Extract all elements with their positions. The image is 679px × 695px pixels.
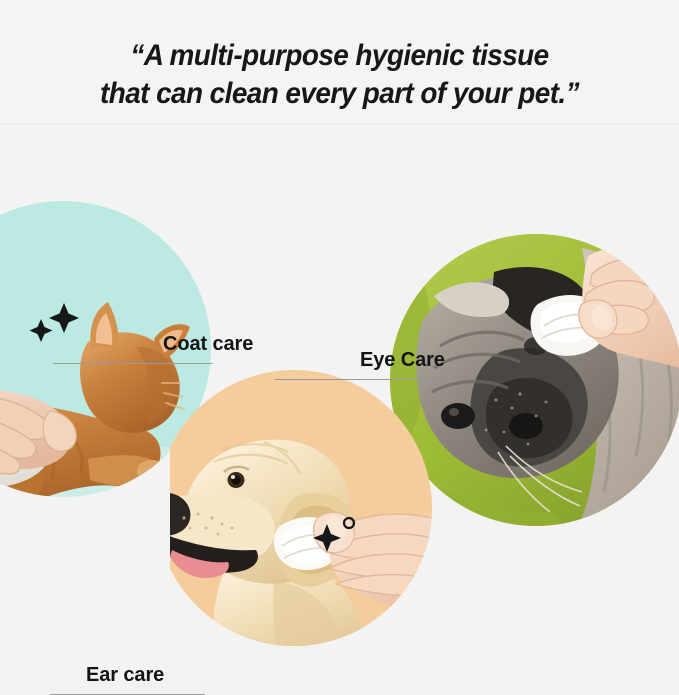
features-panel: Coat care Eye Care Ear care [0, 124, 679, 679]
label-eye-care-rule [275, 379, 435, 380]
photo-ear-care [170, 368, 470, 668]
page-title: “A multi-purpose hygienic tissue that ca… [24, 37, 655, 113]
label-ear-care-text: Ear care [86, 664, 205, 687]
infographic-canvas: “A multi-purpose hygienic tissue that ca… [0, 0, 679, 679]
label-eye-care: Eye Care [360, 349, 445, 380]
label-coat-care-rule [53, 363, 213, 364]
label-eye-care-text: Eye Care [360, 349, 445, 372]
headline-line-1: “A multi-purpose hygienic tissue [130, 39, 548, 72]
label-coat-care-text: Coat care [163, 333, 253, 356]
headline-line-2: that can clean every part of your pet.” [24, 75, 655, 113]
header-banner: “A multi-purpose hygienic tissue that ca… [0, 0, 679, 124]
label-coat-care: Coat care [163, 333, 253, 364]
label-ear-care: Ear care [86, 664, 205, 695]
